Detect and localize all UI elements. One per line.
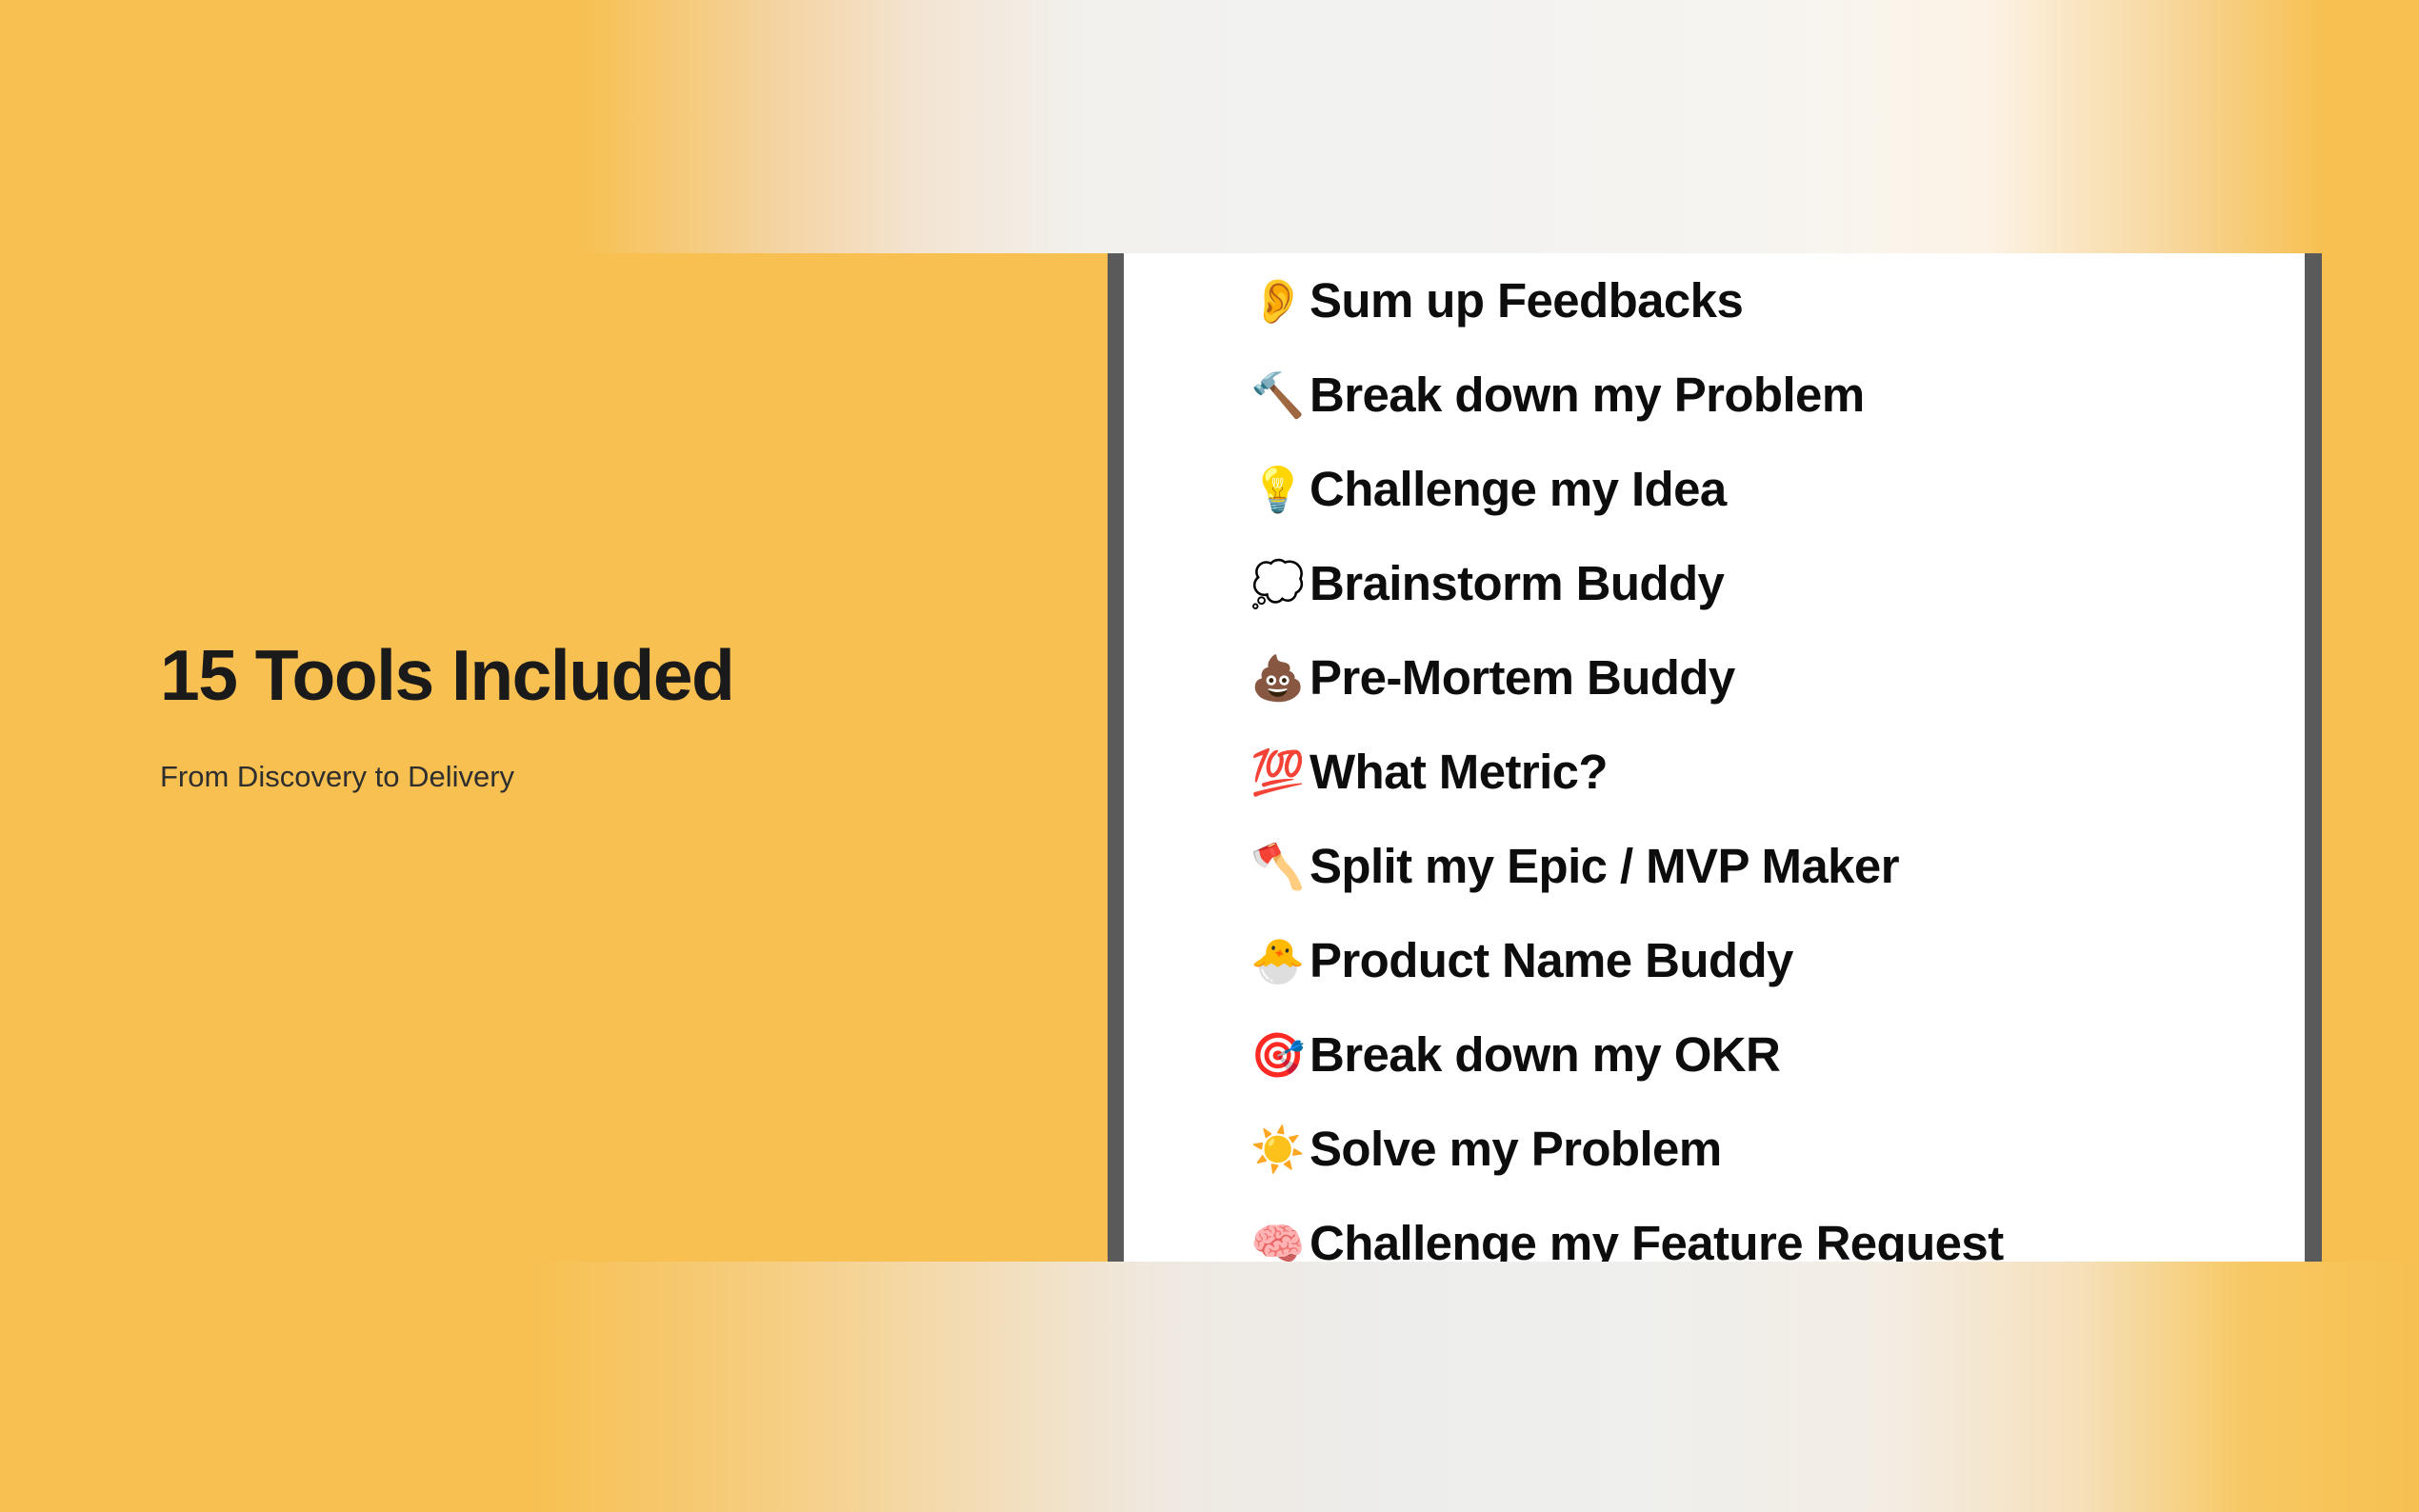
tool-list-item[interactable]: 💡Challenge my Idea: [1250, 442, 2322, 536]
slide-canvas: 15 Tools Included From Discovery to Deli…: [0, 0, 2419, 1512]
bottom-fade-overlay: [0, 1262, 2419, 1512]
poop-icon: 💩: [1250, 656, 1309, 700]
page-title: 15 Tools Included: [160, 640, 733, 711]
tool-item-label: Solve my Problem: [1309, 1124, 1722, 1173]
tool-item-label: Brainstorm Buddy: [1309, 559, 1724, 607]
lightbulb-icon: 💡: [1250, 468, 1309, 511]
tool-item-label: Break down my OKR: [1309, 1030, 1780, 1079]
axe-icon: 🪓: [1250, 845, 1309, 888]
tools-list: 👂Sum up Feedbacks🔨Break down my Problem💡…: [1250, 253, 2322, 1290]
tool-list-item[interactable]: 🪓Split my Epic / MVP Maker: [1250, 819, 2322, 913]
tool-list-item[interactable]: 🎯Break down my OKR: [1250, 1007, 2322, 1102]
tool-list-item[interactable]: 💯What Metric?: [1250, 725, 2322, 819]
top-fade-overlay: [0, 0, 2419, 253]
hammer-icon: 🔨: [1250, 373, 1309, 417]
tool-list-item[interactable]: 💭Brainstorm Buddy: [1250, 536, 2322, 630]
tool-list-item[interactable]: 🔨Break down my Problem: [1250, 348, 2322, 442]
hatching-chick-icon: 🐣: [1250, 939, 1309, 983]
tool-list-item[interactable]: 🐣Product Name Buddy: [1250, 913, 2322, 1007]
tool-item-label: Split my Epic / MVP Maker: [1309, 842, 1899, 890]
brain-icon: 🧠: [1250, 1222, 1309, 1265]
tool-item-label: What Metric?: [1309, 747, 1608, 796]
tool-item-label: Break down my Problem: [1309, 370, 1865, 419]
tool-list-item[interactable]: ☀️Solve my Problem: [1250, 1102, 2322, 1196]
tools-card: 👂Sum up Feedbacks🔨Break down my Problem💡…: [1108, 253, 2322, 1301]
tool-list-item[interactable]: 👂Sum up Feedbacks: [1250, 253, 2322, 348]
tool-item-label: Challenge my Feature Request: [1309, 1219, 2004, 1267]
tool-item-label: Pre-Mortem Buddy: [1309, 653, 1735, 702]
tool-item-label: Sum up Feedbacks: [1309, 276, 1743, 325]
hundred-points-icon: 💯: [1250, 750, 1309, 794]
tool-list-item[interactable]: 💩Pre-Mortem Buddy: [1250, 630, 2322, 725]
tool-item-label: Challenge my Idea: [1309, 465, 1727, 513]
tool-item-label: Product Name Buddy: [1309, 936, 1793, 985]
sun-icon: ☀️: [1250, 1127, 1309, 1171]
thought-balloon-icon: 💭: [1250, 562, 1309, 606]
ear-icon: 👂: [1250, 279, 1309, 323]
dart-target-icon: 🎯: [1250, 1033, 1309, 1077]
page-subtitle: From Discovery to Delivery: [160, 762, 514, 791]
